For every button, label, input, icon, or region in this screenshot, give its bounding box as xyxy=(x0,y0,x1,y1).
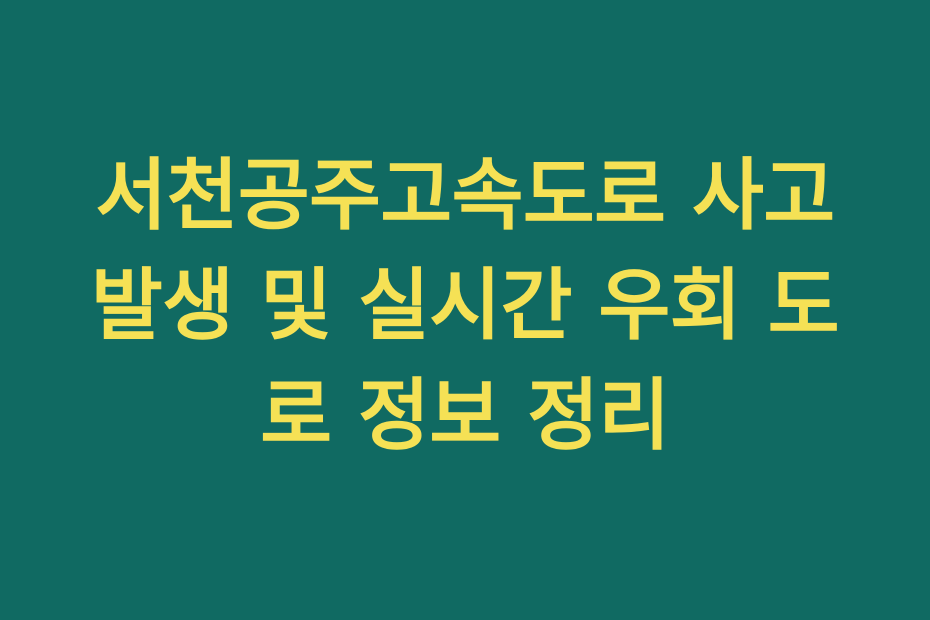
headline-line-2: 발생 및 실시간 우회 도 xyxy=(65,251,865,361)
thumbnail-canvas: 서천공주고속도로 사고 발생 및 실시간 우회 도 로 정보 정리 xyxy=(0,0,930,620)
headline-text-block: 서천공주고속도로 사고 발생 및 실시간 우회 도 로 정보 정리 xyxy=(65,141,865,471)
headline-line-3: 로 정보 정리 xyxy=(65,361,865,471)
headline-line-1: 서천공주고속도로 사고 xyxy=(65,141,865,251)
